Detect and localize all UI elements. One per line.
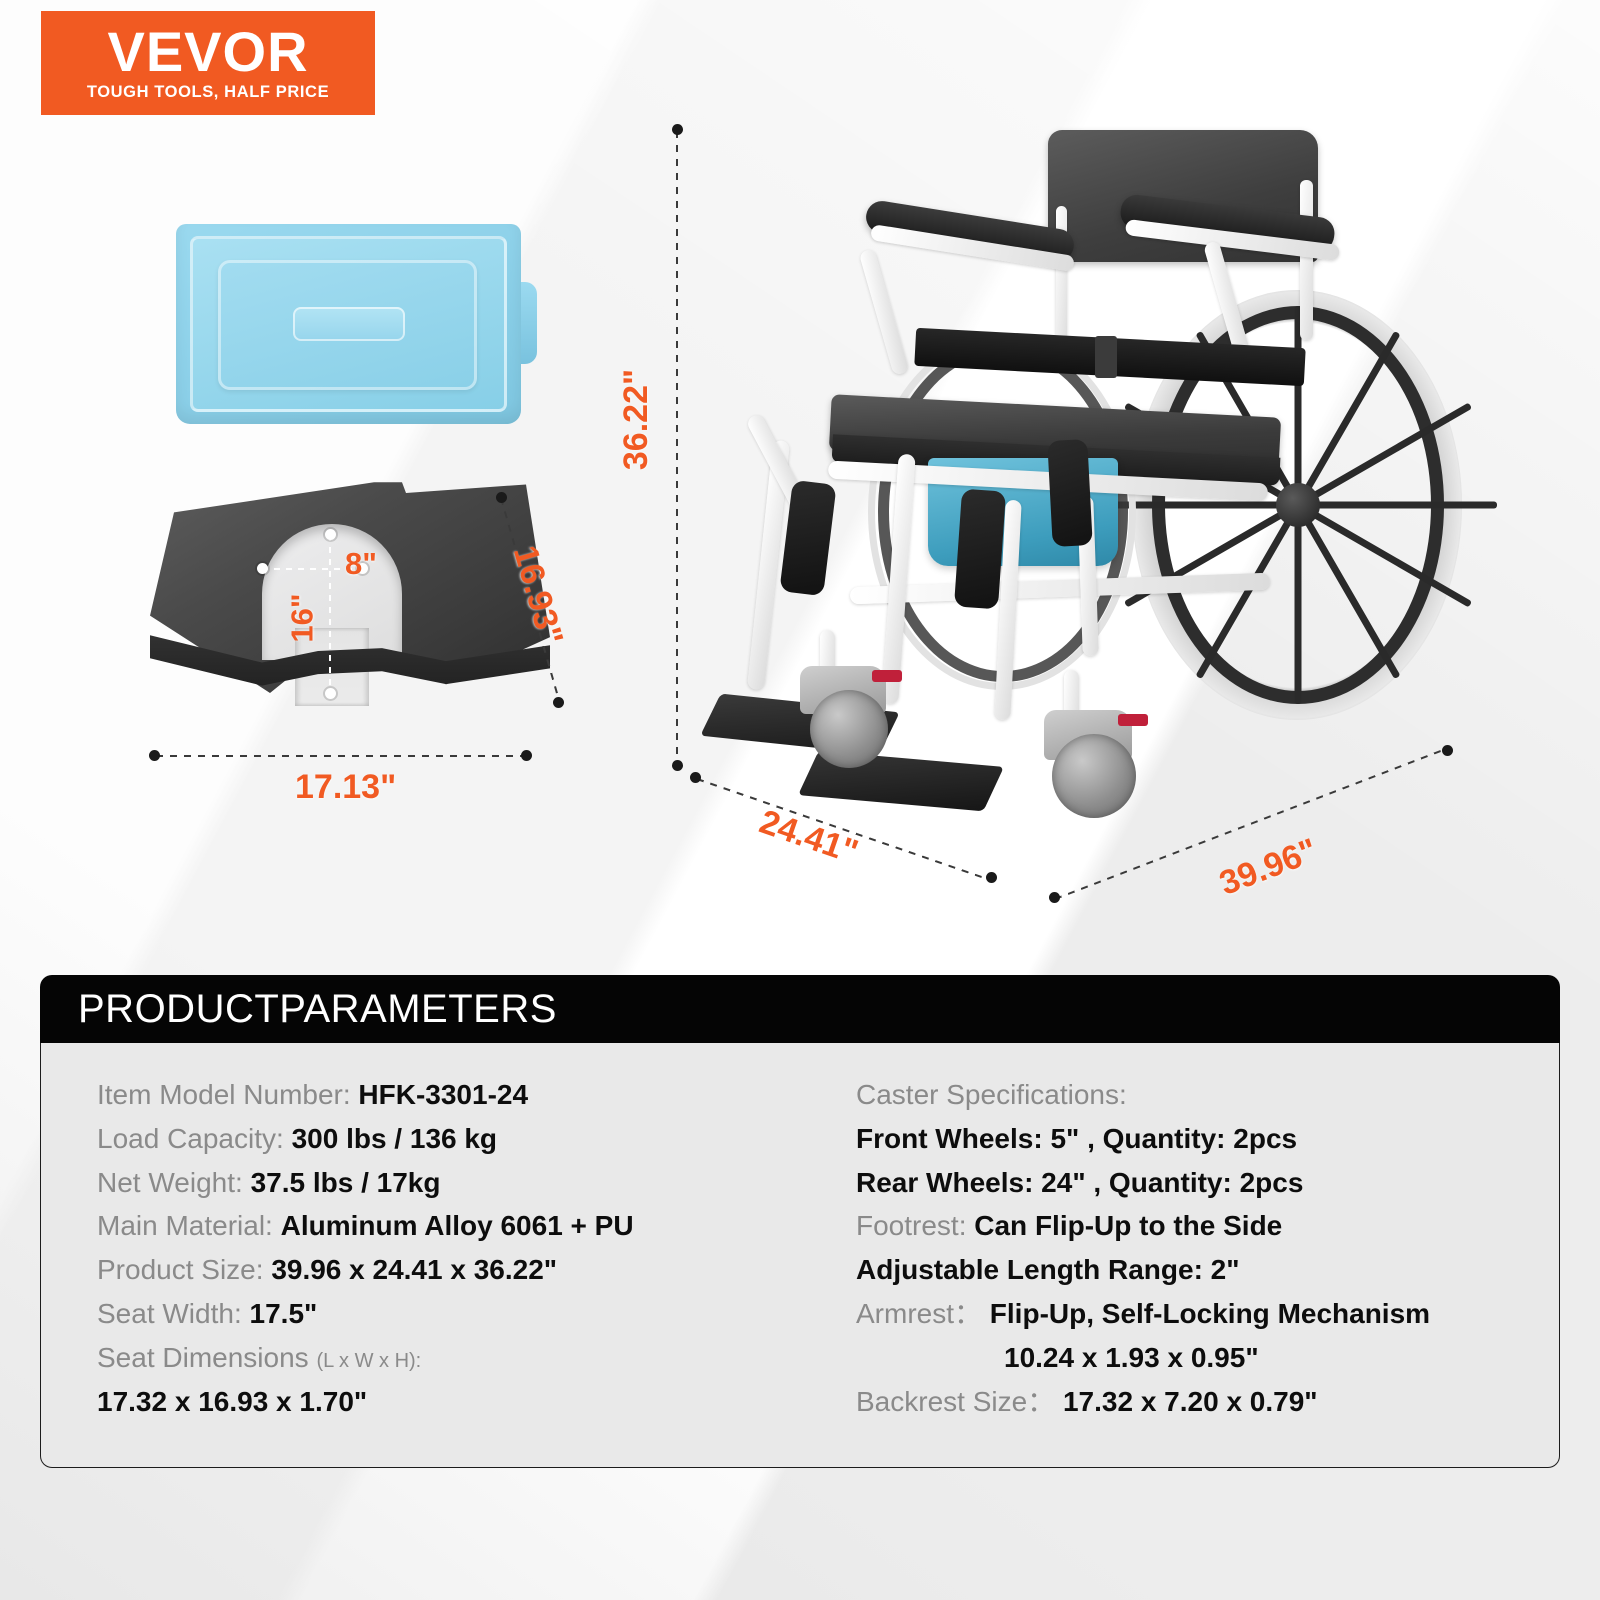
dim-label-hole-depth: 16" [285, 593, 321, 642]
seat-cushion-image [150, 478, 550, 728]
param-row: Net Weight: 37.5 lbs / 17kg [97, 1165, 800, 1201]
param-value: 17.5" [250, 1298, 318, 1329]
dim-label-hole-width: 8" [345, 546, 377, 582]
param-row: Caster Specifications: [856, 1077, 1559, 1113]
caster-brake-left [872, 670, 902, 682]
param-label: Backrest Size： [856, 1386, 1055, 1417]
param-row: Adjustable Length Range: 2" [856, 1252, 1559, 1288]
dim-line-seat-width [156, 755, 526, 757]
shower-commode-wheelchair-image [700, 110, 1460, 870]
dim-label-seat-width: 17.13" [295, 768, 396, 807]
belt-buckle [1095, 336, 1117, 378]
dim-line-chair-height [676, 131, 678, 767]
param-label: Product Size: [97, 1254, 264, 1285]
param-value: Front Wheels: 5" , Quantity: 2pcs [856, 1123, 1297, 1154]
param-label: Load Capacity: [97, 1123, 284, 1154]
rear-wheel-hub [1276, 483, 1320, 527]
param-row: Backrest Size： 17.32 x 7.20 x 0.79" [856, 1384, 1559, 1420]
param-value: 17.32 x 7.20 x 0.79" [1063, 1386, 1318, 1417]
dim-dot [149, 750, 160, 761]
dim-dot [672, 124, 683, 135]
param-row: Product Size: 39.96 x 24.41 x 36.22" [97, 1252, 800, 1288]
param-value: 10.24 x 1.93 x 0.95" [1004, 1342, 1259, 1373]
param-label: Caster Specifications: [856, 1079, 1127, 1110]
param-label: Main Material: [97, 1210, 273, 1241]
param-label: Armrest： [856, 1298, 982, 1329]
param-value: Can Flip-Up to the Side [974, 1210, 1282, 1241]
backrest-post-right [1300, 180, 1313, 340]
param-value: Rear Wheels: 24" , Quantity: 2pcs [856, 1167, 1303, 1198]
pivot-block-right [1047, 439, 1092, 547]
param-row: Rear Wheels: 24" , Quantity: 2pcs [856, 1165, 1559, 1201]
param-row: Load Capacity: 300 lbs / 136 kg [97, 1121, 800, 1157]
param-value: 300 lbs / 136 kg [292, 1123, 497, 1154]
param-row: 17.32 x 16.93 x 1.70" [97, 1384, 800, 1420]
dim-dot [1049, 892, 1060, 903]
param-label: Net Weight: [97, 1167, 243, 1198]
dim-dot [325, 529, 336, 540]
dim-line-hole-depth [329, 535, 331, 695]
param-value: Aluminum Alloy 6061 + PU [281, 1210, 634, 1241]
bucket-lid-handle [293, 307, 405, 341]
dim-dot [496, 492, 507, 503]
param-row: Seat Width: 17.5" [97, 1296, 800, 1332]
param-sublabel: (L x W x H): [316, 1350, 421, 1372]
caster-wheel-left [810, 690, 888, 768]
param-row: Front Wheels: 5" , Quantity: 2pcs [856, 1121, 1559, 1157]
param-value: 37.5 lbs / 17kg [251, 1167, 441, 1198]
param-value: 39.96 x 24.41 x 36.22" [271, 1254, 557, 1285]
pivot-block-mid [954, 489, 1006, 610]
param-value: Flip-Up, Self-Locking Mechanism [990, 1298, 1430, 1329]
vevor-logo: VEVOR TOUGH TOOLS, HALF PRICE [41, 11, 375, 115]
brand-wordmark: VEVOR [107, 25, 308, 79]
param-row: Main Material: Aluminum Alloy 6061 + PU [97, 1208, 800, 1244]
dim-dot [521, 750, 532, 761]
param-row: Armrest： Flip-Up, Self-Locking Mechanism [856, 1296, 1559, 1332]
param-label: Item Model Number: [97, 1079, 351, 1110]
parameters-title-bar: PRODUCTPARAMETERS [40, 975, 1560, 1043]
param-row: Item Model Number: HFK-3301-24 [97, 1077, 800, 1113]
param-value: Adjustable Length Range: 2" [856, 1254, 1240, 1285]
dim-dot [257, 563, 268, 574]
param-row: Seat Dimensions (L x W x H): [97, 1340, 800, 1376]
dim-dot [672, 760, 683, 771]
param-label: Seat Width: [97, 1298, 242, 1329]
dim-label-chair-height: 36.22" [617, 369, 656, 470]
param-label: Footrest: [856, 1210, 966, 1241]
parameters-title: PRODUCTPARAMETERS [78, 987, 557, 1032]
product-parameters-panel: PRODUCTPARAMETERS Item Model Number: HFK… [40, 975, 1560, 1470]
caster-brake-right [1118, 714, 1148, 726]
brand-tagline: TOUGH TOOLS, HALF PRICE [87, 83, 329, 102]
caster-wheel-right [1052, 734, 1136, 818]
param-row: Footrest: Can Flip-Up to the Side [856, 1208, 1559, 1244]
parameters-right-column: Caster Specifications: Front Wheels: 5" … [800, 1043, 1559, 1467]
dim-dot [1442, 745, 1453, 756]
dim-dot [325, 688, 336, 699]
param-row: 10.24 x 1.93 x 0.95" [856, 1340, 1559, 1376]
param-value: HFK-3301-24 [358, 1079, 528, 1110]
param-value: 17.32 x 16.93 x 1.70" [97, 1386, 367, 1417]
armrest-bracket-left [859, 248, 910, 375]
commode-bucket-image [176, 224, 521, 424]
parameters-body: Item Model Number: HFK-3301-24 Load Capa… [40, 1043, 1560, 1468]
dim-dot [986, 872, 997, 883]
dim-dot [553, 697, 564, 708]
dim-dot [690, 772, 701, 783]
parameters-left-column: Item Model Number: HFK-3301-24 Load Capa… [41, 1043, 800, 1467]
param-label: Seat Dimensions [97, 1342, 309, 1373]
